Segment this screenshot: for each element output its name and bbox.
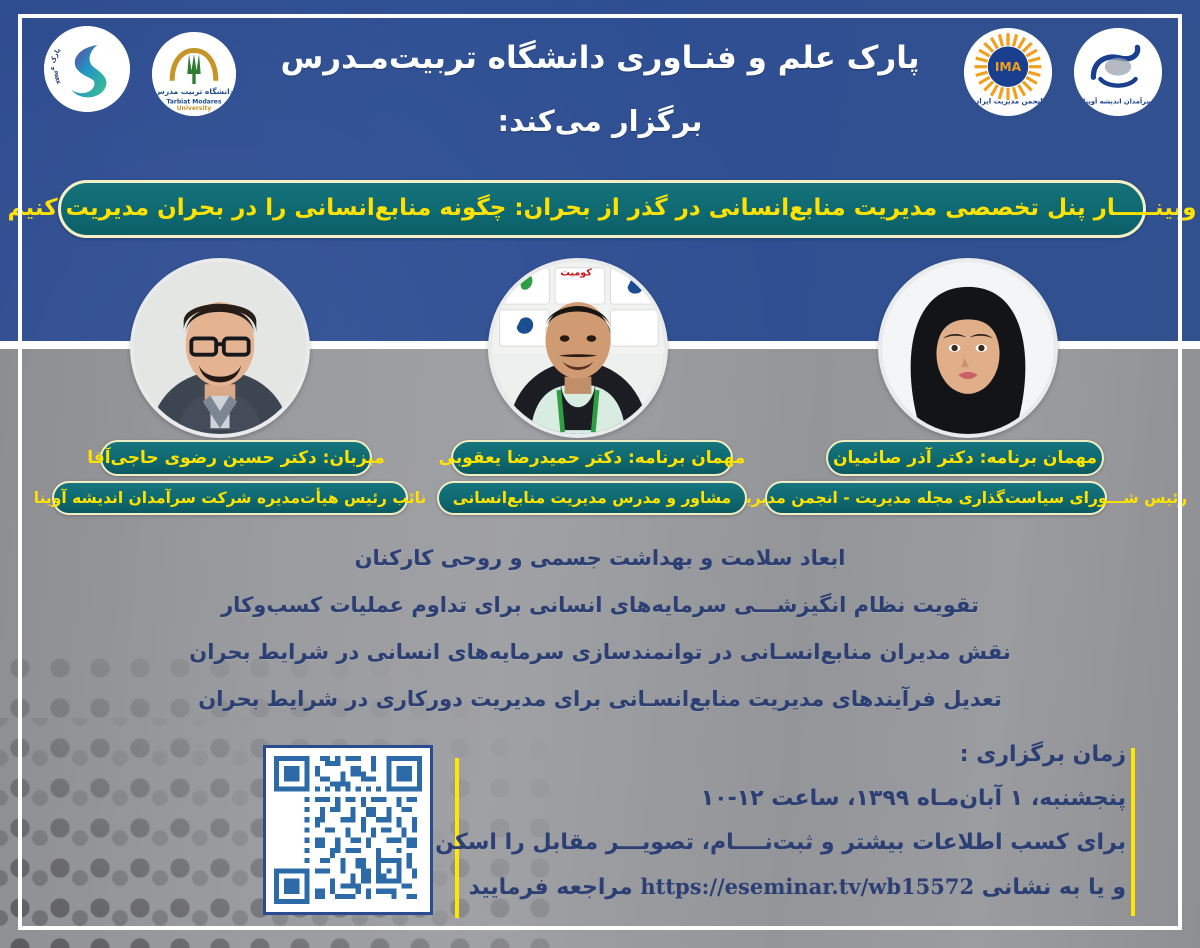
speaker-role-pill-azar-saemian: رئیس شـــورای سیاست‌گذاری مجله مدیریت - … — [765, 481, 1107, 515]
saramadan-andisheh-avina-logo: سرآمدان اندیشه آوینا — [1074, 28, 1162, 116]
topic-item: نقش مدیران منابع‌انسـانی در توانمندسازی … — [60, 642, 1140, 663]
organizer-title-line1: پارک علم و فنـاوری دانشگاه تربیت‌مـدرس — [250, 38, 950, 80]
speaker-photo-hossein-razavi-hajiagha — [130, 258, 310, 438]
event-info-block: زمان برگزاری : پنجشنبه، ۱ آبان‌مـاه ۱۳۹۹… — [486, 744, 1126, 921]
speaker-name-pill-azar-saemian: مهمان برنامه: دکتر آذر صائمیان — [826, 440, 1104, 476]
speaker-photo-hamidreza-yaghoubi: کومیت — [488, 258, 668, 438]
speaker-name-label: میزبان: دکتر حسین رضوی حاجی‌آقا — [75, 448, 397, 468]
url-suffix-text: مراجعه فرمایید — [469, 875, 633, 900]
svg-text:IMA: IMA — [995, 60, 1022, 74]
topic-item: تعدیل فرآیندهای مدیریت منابع‌انسـانی برا… — [60, 689, 1140, 710]
topic-item: ابعاد سلامت و بهداشت جسمی و روحی کارکنان — [60, 548, 1140, 569]
speaker-role-label: رئیس شـــورای سیاست‌گذاری مجله مدیریت - … — [673, 489, 1199, 507]
event-date-time: پنجشنبه، ۱ آبان‌مـاه ۱۳۹۹، ساعت ۱۲-۱۰ — [486, 788, 1126, 810]
tarbiat-modares-university-logo: دانشگاه تربیت مدرس Tarbiat Modares Unive… — [152, 32, 236, 116]
svg-text:دانشگاه تربیت مدرس: دانشگاه تربیت مدرس — [154, 87, 233, 96]
url-prefix-text: و یا به نشانی — [982, 875, 1126, 900]
speaker-role-label: مشاور و مدرس مدیریت منابع‌انسانی — [441, 489, 743, 507]
organizer-title-line2: برگزار می‌کند: — [250, 104, 950, 138]
iran-management-association-logo: IMA انجمن مدیریت ایران — [964, 28, 1052, 116]
event-time-label: زمان برگزاری : — [486, 744, 1126, 766]
speaker-role-pill-hamidreza-yaghoubi: مشاور و مدرس مدیریت منابع‌انسانی — [437, 481, 747, 515]
topic-list: ابعاد سلامت و بهداشت جسمی و روحی کارکنان… — [60, 548, 1140, 736]
speaker-role-label: نائب رئیس هیأت‌مدیره شرکت سرآمدان اندیشه… — [22, 489, 438, 507]
topic-item: تقویت نظام انگیزشـــی سرمایه‌های انسانی … — [60, 595, 1140, 616]
vertical-divider-right — [1131, 748, 1135, 916]
speaker-role-pill-hossein-razavi-hajiagha: نائب رئیس هیأت‌مدیره شرکت سرآمدان اندیشه… — [52, 481, 408, 515]
speaker-name-label: مهمان برنامه: دکتر حمیدرضا یعقوبی — [427, 448, 758, 468]
scan-hint: برای کسب اطلاعات بیشتر و ثبت‌نــــام، تص… — [486, 832, 1126, 854]
science-technology-park-logo: پارک علم و فناوری مدرس SCIENCE & TECHNOL… — [44, 26, 130, 112]
svg-text:انجمن مدیریت ایران: انجمن مدیریت ایران — [973, 97, 1042, 106]
registration-qr-code[interactable] — [263, 745, 433, 915]
registration-url-line: و یا به نشانی https://eseminar.tv/wb1557… — [486, 876, 1126, 899]
svg-text:University: University — [177, 105, 212, 112]
webinar-title-banner: وبینـــــار پنل تخصصی مدیریت منابع‌انسان… — [58, 180, 1146, 238]
speaker-name-pill-hamidreza-yaghoubi: مهمان برنامه: دکتر حمیدرضا یعقوبی — [451, 440, 733, 476]
svg-text:کومیت: کومیت — [560, 267, 592, 278]
speaker-photo-azar-saemian — [878, 258, 1058, 438]
webinar-poster: پارک علم و فناوری مدرس SCIENCE & TECHNOL… — [0, 0, 1200, 948]
svg-text:سرآمدان اندیشه آوینا: سرآمدان اندیشه آوینا — [1083, 97, 1153, 106]
webinar-title-text: وبینـــــار پنل تخصصی مدیریت منابع‌انسان… — [0, 195, 1200, 223]
speaker-name-label: مهمان برنامه: دکتر آذر صائمیان — [821, 448, 1109, 468]
speaker-name-pill-hossein-razavi-hajiagha: میزبان: دکتر حسین رضوی حاجی‌آقا — [100, 440, 372, 476]
registration-url[interactable]: https://eseminar.tv/wb15572 — [640, 874, 974, 899]
